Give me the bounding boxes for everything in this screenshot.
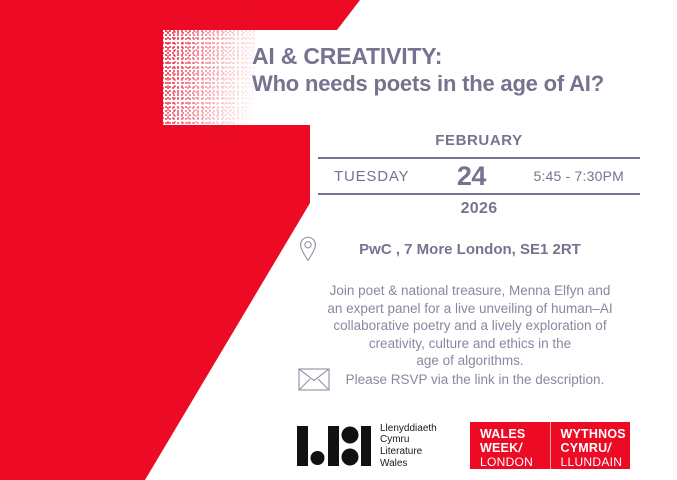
ww-line-3: LONDON: [480, 455, 550, 469]
headline: AI & CREATIVITY: Who needs poets in the …: [252, 42, 662, 98]
lw-line-1: Llenyddiaeth: [380, 423, 437, 435]
date-block: FEBRUARY TUESDAY 24 5:45 - 7:30PM 2026: [318, 130, 640, 218]
description: Join poet & national treasure, Menna Elf…: [296, 282, 644, 370]
description-line-2: an expert panel for a live unveiling of …: [296, 300, 644, 318]
ww-line-1: WALES: [480, 428, 550, 442]
rsvp-text: Please RSVP via the link in the descript…: [330, 372, 638, 387]
event-time: 5:45 - 7:30PM: [533, 168, 624, 184]
event-poster: AI & CREATIVITY: Who needs poets in the …: [0, 0, 677, 480]
description-line-1: Join poet & national treasure, Menna Elf…: [296, 282, 644, 300]
headline-line-2: Who needs poets in the age of AI?: [252, 70, 662, 98]
rsvp-row: Please RSVP via the link in the descript…: [298, 368, 638, 391]
envelope-icon: [298, 368, 330, 391]
location-pin-icon: [298, 236, 318, 262]
literature-wales-wordmark: Llenyddiaeth Cymru Literature Wales: [380, 423, 437, 469]
ww-line-5: CYMRU/: [561, 442, 631, 456]
venue-address: PwC , 7 More London, SE1 2RT: [318, 241, 638, 258]
ww-slash-left: /: [518, 441, 522, 455]
venue-row: PwC , 7 More London, SE1 2RT: [298, 236, 638, 262]
lw-line-2: Cymru: [380, 434, 437, 446]
event-weekday: TUESDAY: [334, 168, 409, 185]
event-day: 24: [457, 161, 486, 192]
ww-line-4: WYTHNOS: [561, 428, 631, 442]
literature-wales-mark-icon: [297, 422, 371, 470]
description-line-3: collaborative poetry and a lively explor…: [296, 317, 644, 335]
red-lower-wedge: [0, 125, 310, 480]
lw-line-4: Wales: [380, 458, 437, 470]
literature-wales-logo: Llenyddiaeth Cymru Literature Wales: [297, 422, 437, 470]
ww-line-6: LLUNDAIN: [561, 455, 631, 469]
description-line-5: age of algorithms.: [296, 352, 644, 370]
wales-week-london-logo: WALES WEEK/ LONDON WYTHNOS CYMRU/ LLUNDA…: [470, 422, 630, 469]
description-line-4: creativity, culture and ethics in the: [296, 335, 644, 353]
date-row: TUESDAY 24 5:45 - 7:30PM: [318, 157, 640, 195]
event-month: FEBRUARY: [318, 130, 640, 152]
ww-line-2: WEEK/: [480, 442, 550, 456]
headline-line-1: AI & CREATIVITY:: [252, 42, 662, 70]
wales-week-english: WALES WEEK/ LONDON: [470, 422, 550, 469]
event-year: 2026: [318, 200, 640, 218]
lw-line-3: Literature: [380, 446, 437, 458]
wales-week-welsh: WYTHNOS CYMRU/ LLUNDAIN: [550, 422, 631, 469]
spray-texture: [145, 10, 257, 132]
ww-slash-right: /: [607, 441, 611, 455]
